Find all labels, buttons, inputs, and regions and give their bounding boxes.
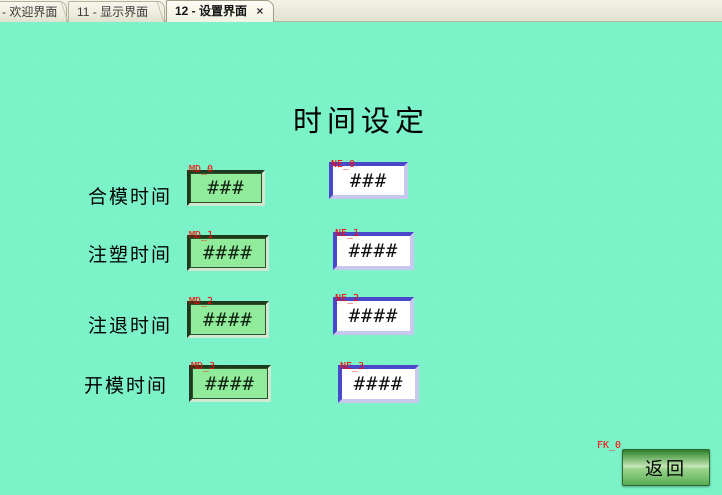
field-value: ####	[354, 373, 404, 395]
tag-ne-0: NE_0	[331, 160, 355, 170]
tag-md-2: MD_2	[189, 297, 213, 307]
tab-label: 12 - 设置界面	[175, 4, 247, 18]
tab-close-icon[interactable]: ×	[256, 1, 263, 22]
page-title: 时间设定	[0, 98, 722, 140]
row-label-mold-open-time: 开模时间	[84, 371, 168, 398]
tag-ne-1: NE_1	[335, 229, 359, 239]
field-value: ####	[349, 240, 399, 262]
field-value: ####	[203, 242, 253, 264]
tab-display-screen[interactable]: 11 - 显示界面	[68, 1, 165, 22]
tab-bar: - 欢迎界面 11 - 显示界面 12 - 设置界面 ×	[0, 0, 722, 22]
tag-md-3: MD_3	[191, 362, 215, 372]
tab-welcome-screen[interactable]: - 欢迎界面	[0, 1, 67, 22]
tag-md-0: MD_0	[189, 165, 213, 175]
tab-label: 11 - 显示界面	[77, 5, 148, 19]
row-label-mold-close-time: 合模时间	[88, 182, 172, 209]
screen-canvas[interactable]: 时间设定 合模时间 MD_0 ### NE_0 ### 注塑时间 MD_1 ##…	[0, 22, 722, 495]
return-button[interactable]: 返回	[622, 449, 710, 486]
tag-fk-0: FK_0	[597, 441, 621, 451]
tag-ne-2: NE_2	[335, 294, 359, 304]
tag-md-1: MD_1	[189, 231, 213, 241]
row-label-injection-retract-time: 注退时间	[88, 311, 172, 338]
field-value: ###	[207, 177, 244, 199]
tag-ne-3: NE_3	[340, 362, 364, 372]
field-value: ####	[349, 305, 399, 327]
numeric-display-mold-close-time[interactable]: ###	[187, 170, 265, 206]
tab-settings-screen[interactable]: 12 - 设置界面 ×	[166, 0, 274, 22]
field-value: ####	[205, 373, 255, 395]
row-label-injection-time: 注塑时间	[88, 240, 172, 267]
field-value: ####	[203, 309, 253, 331]
field-value: ###	[350, 170, 387, 192]
tab-label: - 欢迎界面	[2, 5, 57, 19]
return-button-label: 返回	[645, 455, 687, 481]
